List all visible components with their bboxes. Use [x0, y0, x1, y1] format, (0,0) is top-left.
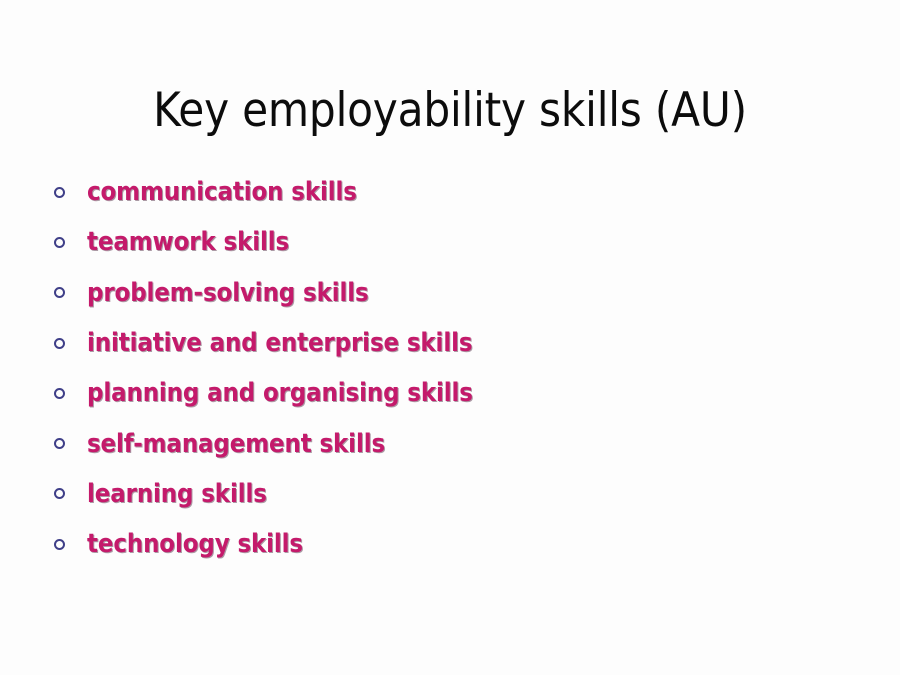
- hollow-circle-bullet-icon: [54, 539, 65, 550]
- hollow-circle-bullet-icon: [54, 237, 65, 248]
- list-item: problem-solving skills: [48, 268, 848, 318]
- list-item-label: learning skills: [87, 480, 267, 508]
- list-item-label: planning and organising skills: [87, 379, 473, 407]
- list-item: communication skills: [48, 167, 848, 217]
- list-item: technology skills: [48, 519, 848, 569]
- list-item: planning and organising skills: [48, 368, 848, 418]
- hollow-circle-bullet-icon: [54, 187, 65, 198]
- slide-canvas: Key employability skills (AU) communicat…: [0, 0, 900, 675]
- hollow-circle-bullet-icon: [54, 287, 65, 298]
- list-item: self-management skills: [48, 418, 848, 468]
- list-item-label: initiative and enterprise skills: [87, 329, 472, 357]
- skills-bullet-list: communication skills teamwork skills pro…: [48, 167, 848, 569]
- list-item-label: technology skills: [87, 530, 303, 558]
- list-item-label: problem-solving skills: [87, 279, 369, 307]
- hollow-circle-bullet-icon: [54, 338, 65, 349]
- list-item-label: communication skills: [87, 178, 357, 206]
- page-title: Key employability skills (AU): [0, 83, 900, 139]
- hollow-circle-bullet-icon: [54, 438, 65, 449]
- list-item: learning skills: [48, 469, 848, 519]
- hollow-circle-bullet-icon: [54, 388, 65, 399]
- list-item: initiative and enterprise skills: [48, 318, 848, 368]
- list-item-label: self-management skills: [87, 430, 385, 458]
- hollow-circle-bullet-icon: [54, 488, 65, 499]
- list-item: teamwork skills: [48, 217, 848, 267]
- list-item-label: teamwork skills: [87, 228, 289, 256]
